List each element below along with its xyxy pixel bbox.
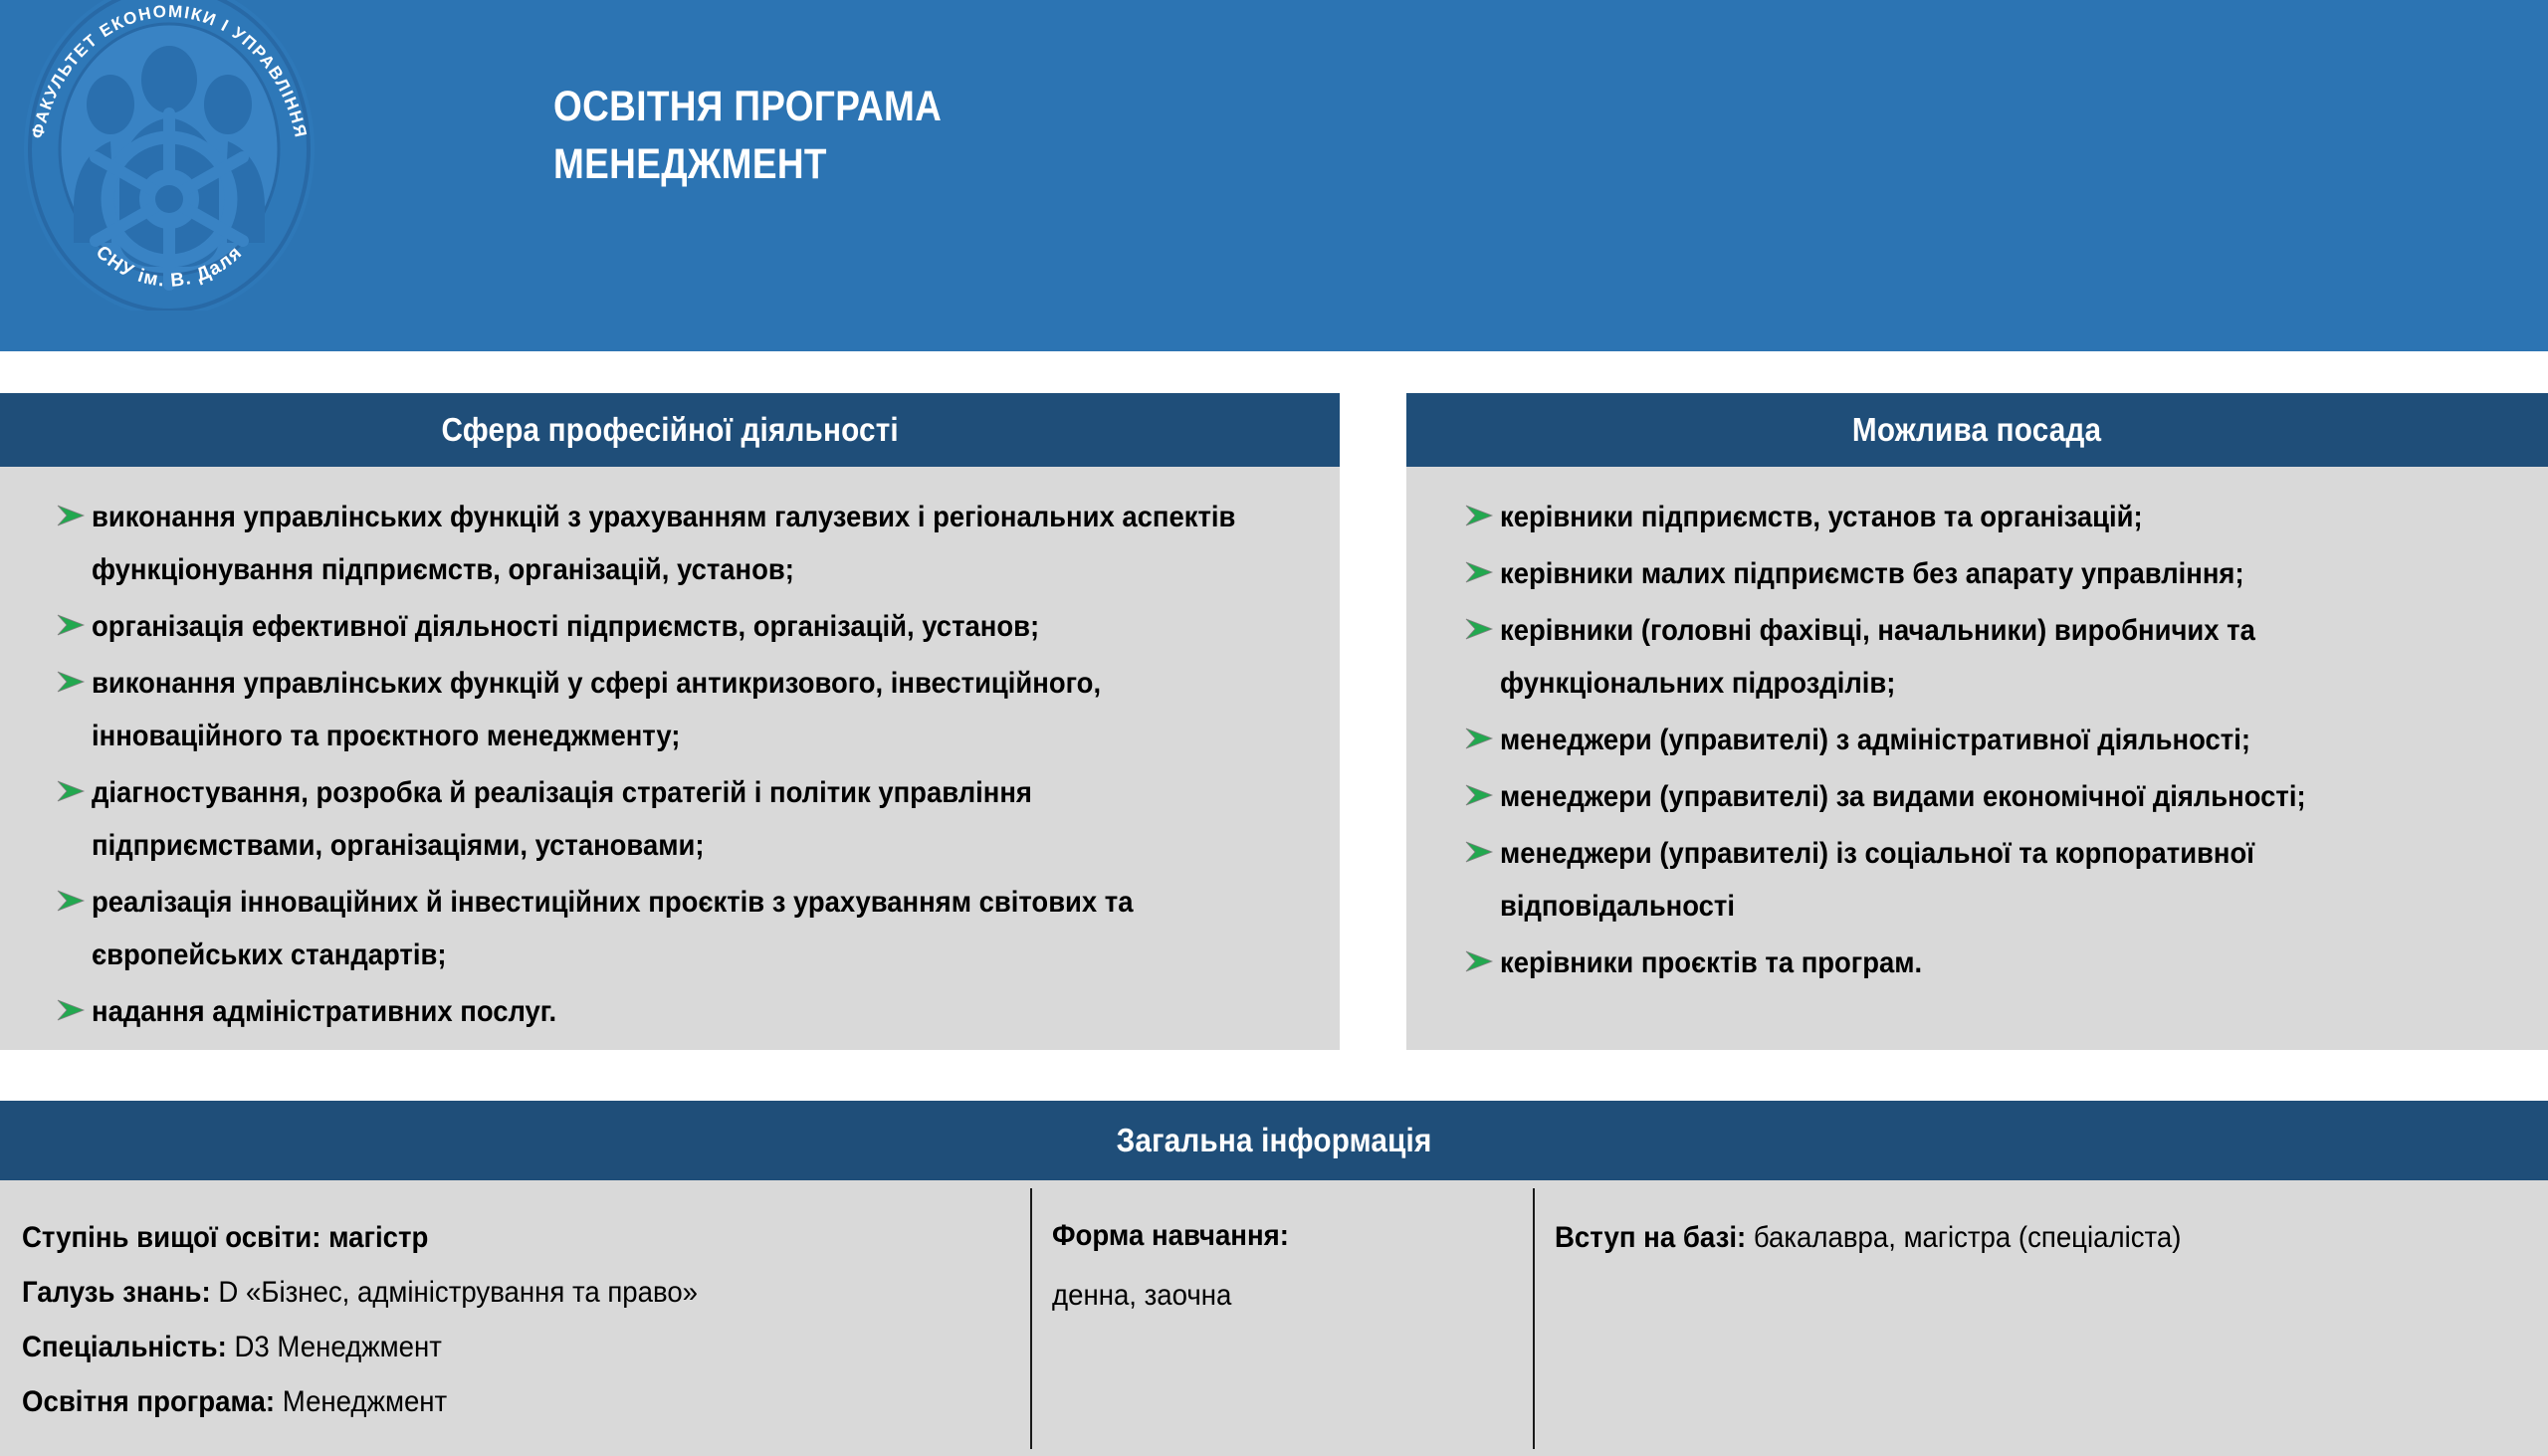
list-item-text: керівники підприємств, установ та органі… [1500, 491, 2143, 543]
list-item: організація ефективної діяльності підпри… [14, 600, 1322, 653]
general-row: Освітня програма: Менеджмент [22, 1374, 1006, 1429]
field-value: D «Бізнес, адміністрування та право» [218, 1276, 698, 1309]
list-item-text: виконання управлінських функцій з урахув… [92, 491, 1235, 596]
arrow-bullet-icon [1464, 782, 1494, 808]
arrow-bullet-icon [1464, 559, 1494, 585]
list-item-text: діагностування, розробка й реалізація ст… [92, 766, 1235, 872]
field-label: Ступінь вищої освіти: [22, 1221, 320, 1254]
panel-possible-position-title: Можлива посада [1852, 411, 2101, 449]
list-item: діагностування, розробка й реалізація ст… [14, 766, 1322, 872]
list-item: реалізація інноваційних й інвестиційних … [14, 876, 1322, 981]
panel-professional-scope-header: Сфера професійної діяльності [0, 393, 1340, 467]
header-title-block: ОСВІТНЯ ПРОГРАМА МЕНЕДЖМЕНТ [553, 78, 1005, 193]
general-column-degree: Ступінь вищої освіти: магістр Галузь зна… [0, 1180, 1030, 1456]
arrow-bullet-icon [56, 778, 86, 804]
arrow-bullet-icon [56, 888, 86, 914]
panel-professional-scope-body: виконання управлінських функцій з урахув… [0, 467, 1340, 1060]
general-information-title: Загальна інформація [1117, 1122, 1432, 1159]
general-row: Ступінь вищої освіти: магістр [22, 1210, 1006, 1265]
field-label: Спеціальність: [22, 1331, 227, 1363]
header-title-line-2: МЕНЕДЖМЕНТ [553, 135, 942, 193]
field-value: Менеджмент [283, 1385, 447, 1418]
general-row: Спеціальність: D3 Менеджмент [22, 1320, 1006, 1374]
general-information-header: Загальна інформація [0, 1101, 2548, 1180]
panel-possible-position-header: Можлива посада [1406, 393, 2548, 467]
field-value: бакалавра, магістра (спеціаліста) [1754, 1221, 2182, 1254]
list-item: керівники проєктів та програм. [1420, 936, 2530, 989]
panel-professional-scope: Сфера професійної діяльності виконання у… [0, 393, 1340, 1050]
arrow-bullet-icon [1464, 839, 1494, 865]
field-value: магістр [328, 1221, 428, 1254]
header-title-line-1: ОСВІТНЯ ПРОГРАМА [553, 78, 942, 135]
list-item: менеджери (управителі) за видами економі… [1420, 770, 2530, 823]
slide-header: ФАКУЛЬТЕТ ЕКОНОМІКИ І УПРАВЛІННЯ СНУ ім.… [0, 0, 2548, 351]
column-divider [1533, 1188, 1535, 1449]
general-row: денна, заочна [1052, 1270, 1509, 1322]
field-label: Форма навчання: [1052, 1219, 1289, 1252]
possible-position-list: керівники підприємств, установ та органі… [1420, 491, 2530, 989]
list-item: виконання управлінських функцій з урахув… [14, 491, 1322, 596]
arrow-bullet-icon [56, 669, 86, 695]
list-item-text: виконання управлінських функцій у сфері … [92, 657, 1235, 762]
list-item: виконання управлінських функцій у сфері … [14, 657, 1322, 762]
list-item-text: керівники малих підприємств без апарату … [1500, 547, 2244, 600]
field-value: денна, заочна [1052, 1279, 1231, 1312]
general-row: Вступ на базі: бакалавра, магістра (спец… [1555, 1210, 2524, 1265]
column-divider [1030, 1188, 1032, 1449]
list-item-text: менеджери (управителі) із соціальної та … [1500, 827, 2458, 933]
list-item-text: керівники проєктів та програм. [1500, 936, 1922, 989]
faculty-logo: ФАКУЛЬТЕТ ЕКОНОМІКИ І УПРАВЛІННЯ СНУ ім.… [8, 0, 326, 311]
arrow-bullet-icon [56, 997, 86, 1023]
list-item-text: надання адміністративних послуг. [92, 985, 556, 1038]
field-label: Галузь знань: [22, 1276, 211, 1309]
arrow-bullet-icon [1464, 616, 1494, 642]
field-label: Освітня програма: [22, 1385, 275, 1418]
general-information-grid: Ступінь вищої освіти: магістр Галузь зна… [0, 1180, 2548, 1456]
list-item-text: менеджери (управителі) за видами економі… [1500, 770, 2306, 823]
list-item-text: керівники (головні фахівці, начальники) … [1500, 604, 2458, 710]
panel-possible-position-body: керівники підприємств, установ та органі… [1406, 467, 2548, 1011]
section-general-information: Загальна інформація Ступінь вищої освіти… [0, 1101, 2548, 1456]
arrow-bullet-icon [1464, 948, 1494, 974]
list-item-text: організація ефективної діяльності підпри… [92, 600, 1039, 653]
arrow-bullet-icon [1464, 726, 1494, 751]
panel-professional-scope-title: Сфера професійної діяльності [441, 411, 898, 449]
general-column-study-form: Форма навчання: денна, заочна [1030, 1180, 1533, 1456]
list-item: керівники (головні фахівці, начальники) … [1420, 604, 2530, 710]
arrow-bullet-icon [1464, 503, 1494, 528]
list-item: керівники малих підприємств без апарату … [1420, 547, 2530, 600]
general-column-admission-base: Вступ на базі: бакалавра, магістра (спец… [1533, 1180, 2548, 1456]
spacer [1052, 1262, 1509, 1270]
field-label: Вступ на базі: [1555, 1221, 1746, 1254]
list-item-text: реалізація інноваційних й інвестиційних … [92, 876, 1235, 981]
list-item-text: менеджери (управителі) з адміністративно… [1500, 714, 2250, 766]
list-item: надання адміністративних послуг. [14, 985, 1322, 1038]
general-row: Галузь знань: D «Бізнес, адміністрування… [22, 1265, 1006, 1320]
general-row: Форма навчання: [1052, 1210, 1509, 1262]
list-item: керівники підприємств, установ та органі… [1420, 491, 2530, 543]
list-item: менеджери (управителі) із соціальної та … [1420, 827, 2530, 933]
professional-scope-list: виконання управлінських функцій з урахув… [14, 491, 1322, 1038]
arrow-bullet-icon [56, 503, 86, 528]
arrow-bullet-icon [56, 612, 86, 638]
panel-possible-position: Можлива посада керівники підприємств, ус… [1406, 393, 2548, 1050]
field-value: D3 Менеджмент [234, 1331, 441, 1363]
list-item: менеджери (управителі) з адміністративно… [1420, 714, 2530, 766]
